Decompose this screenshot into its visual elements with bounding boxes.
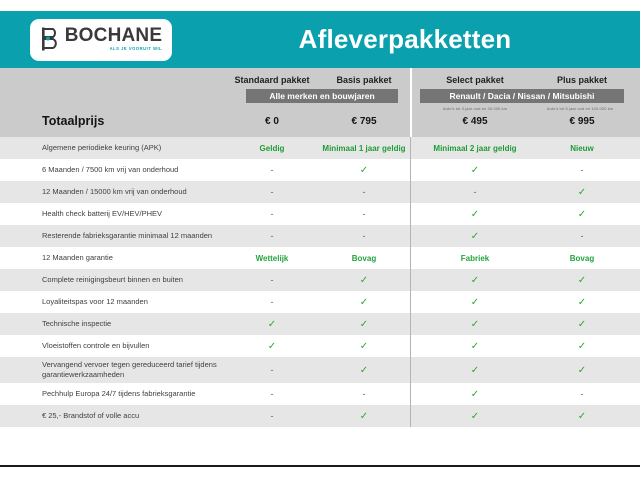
cell-check: ✓ — [534, 341, 630, 352]
cell-check: ✓ — [320, 341, 408, 352]
cell-check: ✓ — [420, 275, 530, 286]
table-row: Loyaliteitspas voor 12 maanden-✓✓✓ — [0, 291, 640, 313]
cell-text: Fabriek — [420, 254, 530, 263]
feature-label: Complete reinigingsbeurt binnen en buite… — [42, 275, 220, 285]
feature-label: Pechhulp Europa 24/7 tijdens fabrieksgar… — [42, 389, 220, 399]
cell-check: ✓ — [320, 297, 408, 308]
cell-check: ✓ — [320, 319, 408, 330]
table-footer-spacer — [0, 427, 640, 443]
price-plus: € 995 — [534, 116, 630, 127]
cell-text: Minimaal 1 jaar geldig — [320, 144, 408, 153]
cell-dash: - — [222, 365, 322, 375]
cell-text: Nieuw — [534, 144, 630, 153]
page-header: BOCHANE ALS JE VOORUIT WIL Afleverpakket… — [0, 11, 640, 68]
table-row: Health check batterij EV/HEV/PHEV--✓✓ — [0, 203, 640, 225]
cell-dash: - — [222, 389, 322, 399]
price-select: € 495 — [420, 116, 530, 127]
table-row: 12 Maanden garantieWettelijkBovagFabriek… — [0, 247, 640, 269]
cell-dash: - — [534, 165, 630, 175]
cell-check: ✓ — [420, 411, 530, 422]
feature-label: € 25,- Brandstof of volle accu — [42, 411, 220, 421]
feature-label: Health check batterij EV/HEV/PHEV — [42, 209, 220, 219]
cell-dash: - — [534, 231, 630, 241]
cell-check: ✓ — [534, 209, 630, 220]
table-row: Algemene periodieke keuring (APK)GeldigM… — [0, 137, 640, 159]
table-row: Technische inspectie✓✓✓✓ — [0, 313, 640, 335]
cell-dash: - — [222, 165, 322, 175]
cell-dash: - — [320, 209, 408, 219]
cell-check: ✓ — [420, 389, 530, 400]
cell-check: ✓ — [534, 297, 630, 308]
price-standaard: € 0 — [222, 116, 322, 127]
feature-label: Vloeistoffen controle en bijvullen — [42, 341, 220, 351]
table-group-divider — [410, 137, 411, 427]
column-header-standaard: Standaard pakket — [222, 75, 322, 85]
cell-dash: - — [420, 187, 530, 197]
feature-label: Vervangend vervoer tegen gereduceerd tar… — [42, 360, 220, 380]
package-header: Standaard pakket Basis pakket Select pak… — [0, 68, 640, 137]
cell-dash: - — [320, 389, 408, 399]
column-header-basis: Basis pakket — [320, 75, 408, 85]
cell-text: Bovag — [320, 254, 408, 263]
cell-check: ✓ — [420, 165, 530, 176]
package-group-divider — [410, 68, 412, 137]
feature-comparison-table: Algemene periodieke keuring (APK)GeldigM… — [0, 137, 640, 427]
cell-text: Wettelijk — [222, 254, 322, 263]
table-row: 12 Maanden / 15000 km vrij van onderhoud… — [0, 181, 640, 203]
cell-check: ✓ — [420, 341, 530, 352]
cell-text: Geldig — [222, 144, 322, 153]
price-basis: € 795 — [320, 116, 408, 127]
feature-label: 12 Maanden / 15000 km vrij van onderhoud — [42, 187, 220, 197]
table-row: 6 Maanden / 7500 km vrij van onderhoud-✓… — [0, 159, 640, 181]
group-label-alle-merken: Alle merken en bouwjaren — [246, 89, 398, 103]
cell-check: ✓ — [222, 319, 322, 330]
cell-check: ✓ — [420, 231, 530, 242]
cell-check: ✓ — [534, 275, 630, 286]
cell-dash: - — [320, 187, 408, 197]
cell-text: Bovag — [534, 254, 630, 263]
cell-dash: - — [534, 389, 630, 399]
cell-check: ✓ — [320, 411, 408, 422]
group-label-renault-dacia-nissan-mitsubishi: Renault / Dacia / Nissan / Mitsubishi — [420, 89, 624, 103]
table-row: Resterende fabrieksgarantie minimaal 12 … — [0, 225, 640, 247]
cell-check: ✓ — [320, 365, 408, 376]
cell-check: ✓ — [534, 319, 630, 330]
feature-label: Technische inspectie — [42, 319, 220, 329]
feature-label: 12 Maanden garantie — [42, 253, 220, 263]
cell-check: ✓ — [420, 365, 530, 376]
table-row: Vervangend vervoer tegen gereduceerd tar… — [0, 357, 640, 383]
cell-check: ✓ — [534, 411, 630, 422]
cell-dash: - — [222, 187, 322, 197]
cell-check: ✓ — [420, 209, 530, 220]
cell-dash: - — [320, 231, 408, 241]
cell-text: Minimaal 2 jaar geldig — [420, 144, 530, 153]
afleverpakketten-page: BOCHANE ALS JE VOORUIT WIL Afleverpakket… — [0, 11, 640, 467]
table-row: Complete reinigingsbeurt binnen en buite… — [0, 269, 640, 291]
table-row: € 25,- Brandstof of volle accu-✓✓✓ — [0, 405, 640, 427]
cell-check: ✓ — [222, 341, 322, 352]
cell-check: ✓ — [534, 365, 630, 376]
feature-label: 6 Maanden / 7500 km vrij van onderhoud — [42, 165, 220, 175]
cell-dash: - — [222, 231, 322, 241]
column-header-plus: Plus pakket — [534, 75, 630, 85]
totaalprijs-label: Totaalprijs — [42, 114, 104, 128]
cell-check: ✓ — [534, 187, 630, 198]
cell-dash: - — [222, 411, 322, 421]
feature-label: Algemene periodieke keuring (APK) — [42, 143, 220, 153]
cell-check: ✓ — [420, 319, 530, 330]
subnote-select: Auto's tot 3 jaar oud en 30.000 km — [420, 106, 530, 111]
cell-check: ✓ — [320, 275, 408, 286]
table-row: Vloeistoffen controle en bijvullen✓✓✓✓ — [0, 335, 640, 357]
cell-check: ✓ — [320, 165, 408, 176]
cell-dash: - — [222, 209, 322, 219]
subnote-plus: Auto's tot 5 jaar oud en 100.000 km — [528, 106, 632, 111]
table-row: Pechhulp Europa 24/7 tijdens fabrieksgar… — [0, 383, 640, 405]
cell-check: ✓ — [420, 297, 530, 308]
cell-dash: - — [222, 275, 322, 285]
feature-label: Resterende fabrieksgarantie minimaal 12 … — [42, 231, 220, 241]
feature-label: Loyaliteitspas voor 12 maanden — [42, 297, 220, 307]
page-title: Afleverpakketten — [0, 11, 640, 68]
cell-dash: - — [222, 297, 322, 307]
column-header-select: Select pakket — [420, 75, 530, 85]
